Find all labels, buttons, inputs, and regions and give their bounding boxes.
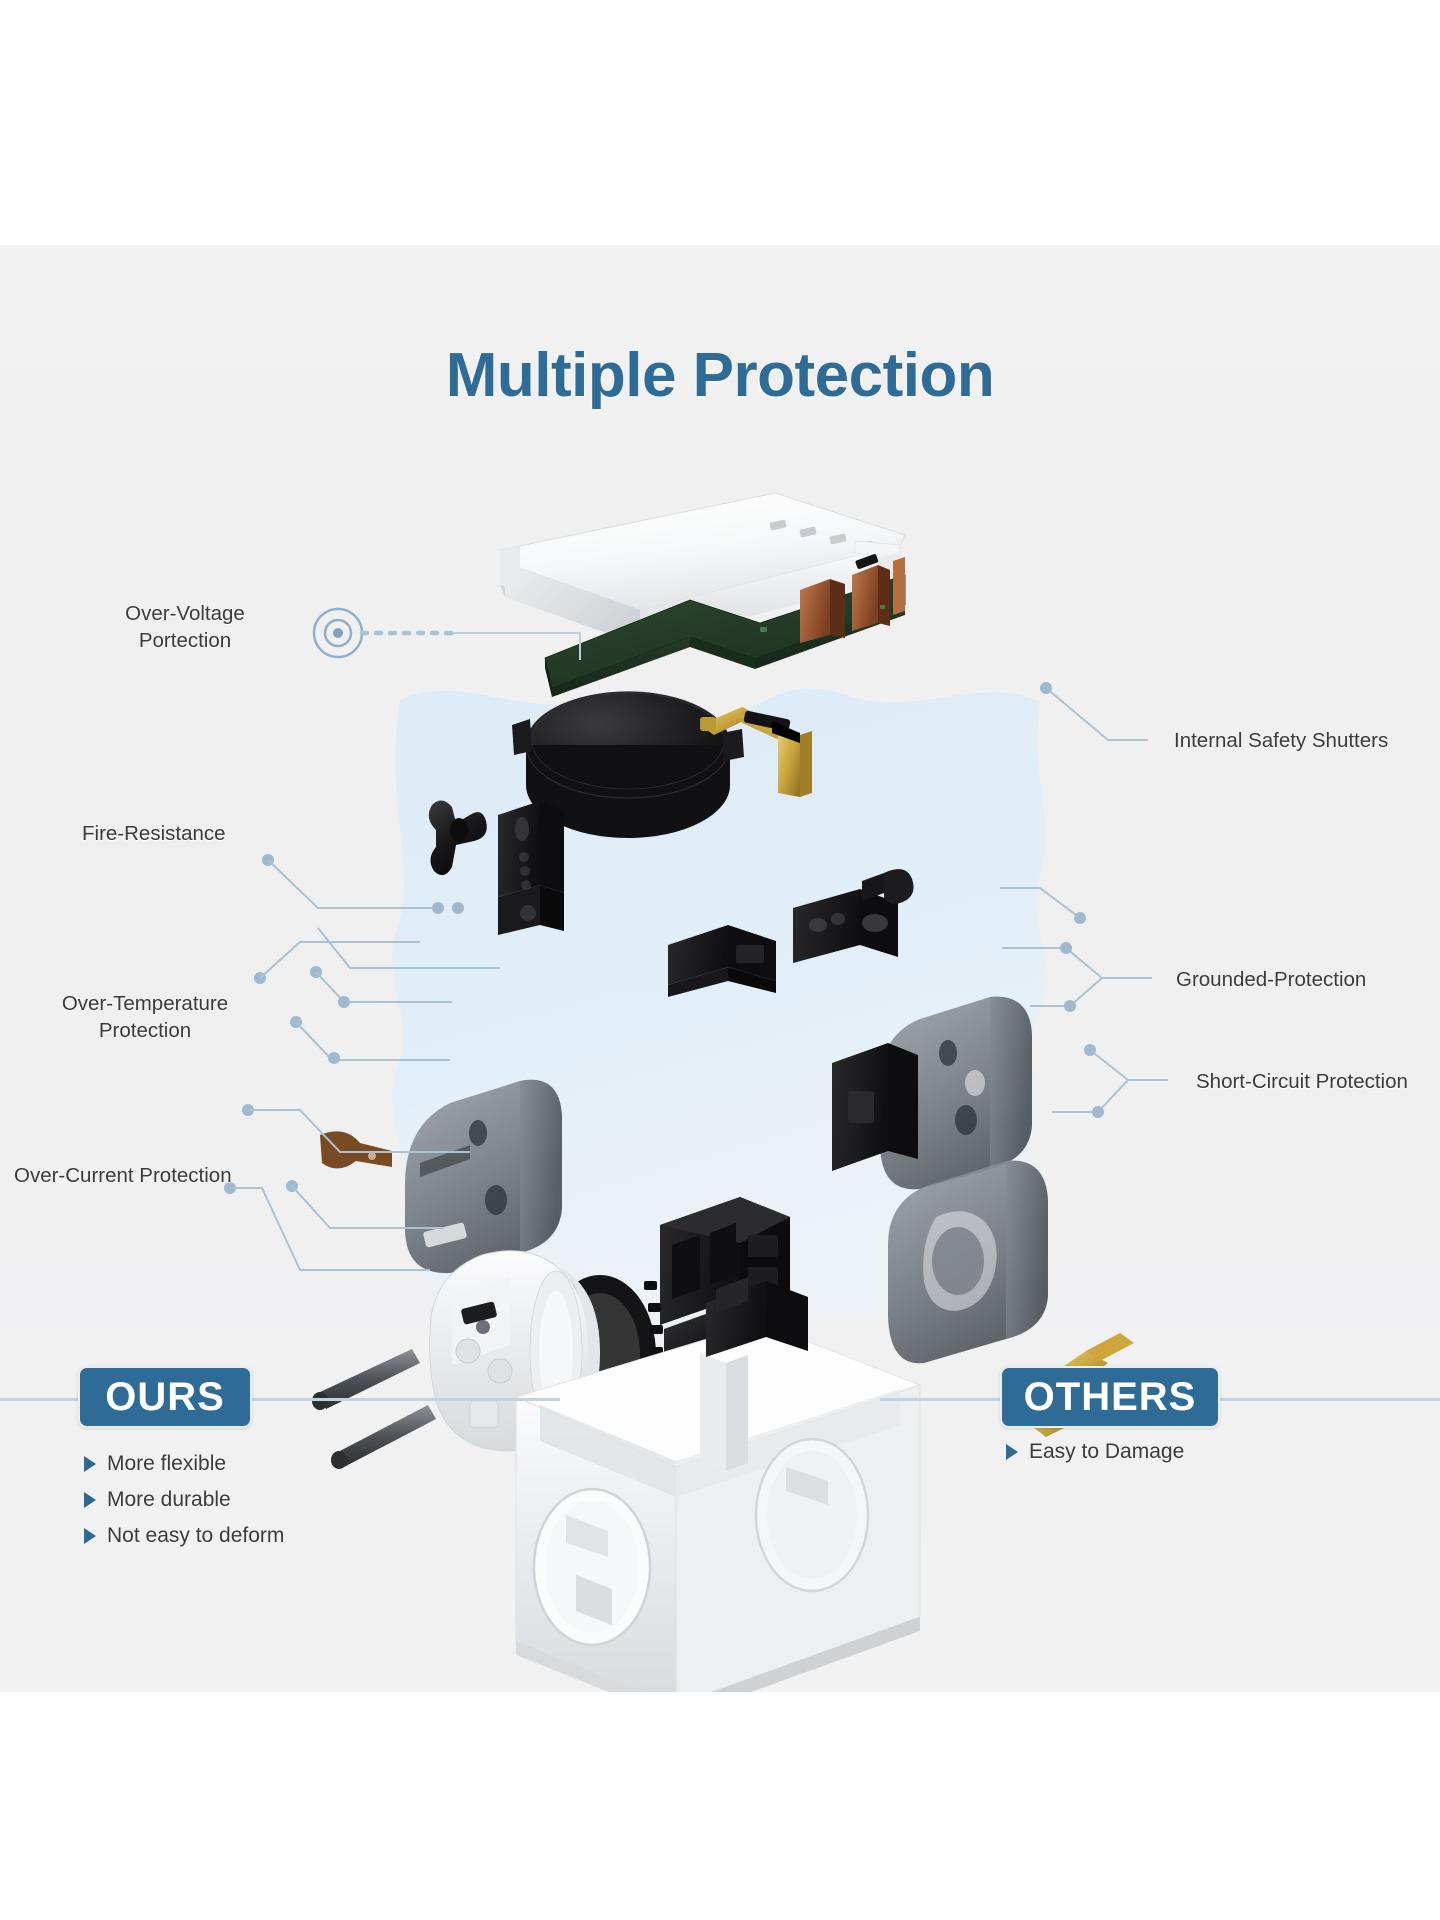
socket-hole-left [534,1489,650,1645]
ours-bullet-list: More flexible More durable Not easy to d… [84,1446,284,1554]
triangle-bullet-icon [84,1456,96,1472]
infographic-root: Multiple Protection [0,0,1440,1920]
ours-bullet-1: More flexible [107,1452,226,1476]
callout-internal-safety-shutters-line1: Internal Safety Shutters [1174,727,1388,754]
others-bullet-1: Easy to Damage [1029,1440,1184,1464]
callout-short-circuit-protection-line1: Short-Circuit Protection [1196,1068,1408,1095]
part-gray-socket-right-upper [832,997,1032,1190]
callout-short-circuit-protection: Short-Circuit Protection [1196,1068,1408,1095]
plug-prongs [312,1349,436,1469]
triangle-bullet-icon [84,1528,96,1544]
ours-bullet-2: More durable [107,1488,231,1512]
list-item: Easy to Damage [1006,1434,1184,1470]
socket-hole-right [756,1439,868,1591]
callout-grounded-protection: Grounded-Protection [1176,966,1366,993]
callout-fire-resistance-line1: Fire-Resistance [82,820,226,847]
callout-over-temperature: Over-Temperature Protection [20,990,270,1044]
list-item: More flexible [84,1446,284,1482]
callout-over-voltage-line2: Portection [60,627,310,654]
callout-fire-resistance: Fire-Resistance [82,820,226,847]
triangle-bullet-icon [84,1492,96,1508]
callout-over-temperature-line1: Over-Temperature [20,990,270,1017]
callout-over-current: Over-Current Protection [14,1162,232,1189]
list-item: Not easy to deform [84,1518,284,1554]
others-badge: OTHERS [1000,1366,1220,1428]
ours-bullet-3: Not easy to deform [107,1524,284,1548]
triangle-bullet-icon [1006,1444,1018,1460]
callout-over-voltage-line1: Over-Voltage [60,600,310,627]
callout-over-voltage: Over-Voltage Portection [60,600,310,654]
others-bullet-list: Easy to Damage [1006,1434,1184,1470]
callout-over-temperature-line2: Protection [20,1017,270,1044]
ours-badge: OURS [78,1366,252,1428]
callout-over-current-line1: Over-Current Protection [14,1162,232,1189]
callout-grounded-protection-line1: Grounded-Protection [1176,966,1366,993]
part-gray-socket-left [320,1080,562,1273]
callout-internal-safety-shutters: Internal Safety Shutters [1174,727,1388,754]
list-item: More durable [84,1482,284,1518]
